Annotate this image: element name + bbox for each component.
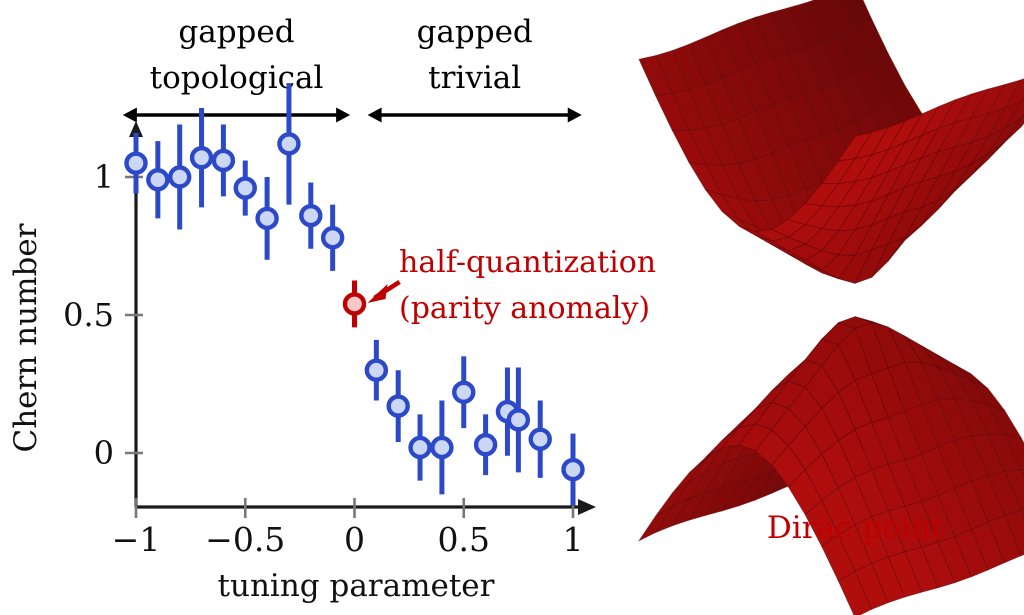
phase-arrow-head-left-icon — [123, 108, 137, 123]
data-marker[interactable] — [432, 438, 451, 457]
data-marker[interactable] — [301, 206, 320, 225]
figure-root: gappedtopologicalgappedtrivial00.51−1−0.… — [0, 0, 1024, 615]
dirac-point-label: Dirac point — [767, 510, 944, 546]
x-axis-title: tuning parameter — [218, 568, 495, 604]
data-marker[interactable] — [509, 410, 528, 429]
y-tick-label-1: 0.5 — [63, 296, 114, 334]
data-marker[interactable] — [476, 435, 495, 454]
data-marker[interactable] — [454, 383, 473, 402]
phase-label-line2: topological — [150, 60, 324, 96]
data-point[interactable] — [323, 205, 342, 271]
x-tick-label-4: 1 — [563, 520, 584, 559]
phase-label-line1: gapped — [178, 14, 294, 50]
data-marker[interactable] — [214, 151, 233, 170]
y-tick-label-0: 0 — [94, 434, 114, 472]
data-marker[interactable] — [411, 438, 430, 457]
data-point[interactable] — [279, 83, 298, 204]
data-point[interactable] — [509, 367, 528, 472]
phase-region-gapped-topological: gappedtopological — [123, 14, 350, 123]
figure-canvas: gappedtopologicalgappedtrivial00.51−1−0.… — [0, 0, 1024, 615]
dirac-cone-upper-sheet — [639, 0, 1024, 283]
data-point[interactable] — [148, 141, 167, 218]
data-point[interactable] — [214, 125, 233, 197]
half-quantization-annotation: half-quantization(parity anomaly) — [368, 245, 657, 326]
series-half-quantized — [345, 281, 364, 328]
phase-regions: gappedtopologicalgappedtrivial — [123, 14, 582, 123]
data-marker[interactable] — [258, 209, 277, 228]
data-point[interactable] — [301, 183, 320, 249]
data-marker[interactable] — [192, 148, 211, 167]
data-point[interactable] — [170, 125, 189, 230]
annotation-arrow-head-icon — [368, 284, 388, 303]
data-point[interactable] — [236, 160, 255, 215]
phase-arrow-head-right-icon — [336, 108, 350, 123]
dirac-cone-lower-sheet — [639, 317, 1024, 615]
data-marker[interactable] — [170, 168, 189, 187]
data-marker[interactable] — [236, 179, 255, 198]
data-point[interactable] — [564, 434, 583, 506]
data-point[interactable] — [345, 281, 364, 328]
data-point[interactable] — [411, 414, 430, 480]
data-marker[interactable] — [531, 430, 550, 449]
phase-region-gapped-trivial: gappedtrivial — [368, 14, 582, 123]
y-axis-title: Chern number — [8, 223, 44, 452]
x-tick-label-3: 0.5 — [438, 520, 490, 559]
parity-anomaly-label: (parity anomaly) — [399, 291, 650, 326]
x-tick-label-1: −0.5 — [205, 520, 285, 559]
plot-axes: 00.51−1−0.500.51tuning parameterChern nu… — [8, 121, 596, 604]
data-point[interactable] — [258, 177, 277, 260]
phase-arrow-head-right-icon — [568, 108, 582, 123]
data-marker[interactable] — [323, 228, 342, 247]
data-point[interactable] — [127, 133, 146, 194]
phase-label-line1: gapped — [417, 14, 533, 50]
half-quantization-label: half-quantization — [399, 245, 656, 280]
data-marker[interactable] — [279, 134, 298, 153]
data-marker[interactable] — [367, 361, 386, 380]
data-point[interactable] — [454, 356, 473, 428]
data-point[interactable] — [531, 401, 550, 478]
data-marker[interactable] — [345, 294, 364, 313]
data-marker[interactable] — [389, 397, 408, 416]
data-point[interactable] — [367, 340, 386, 401]
data-marker[interactable] — [127, 154, 146, 173]
data-point[interactable] — [476, 414, 495, 475]
x-tick-label-2: 0 — [344, 520, 365, 559]
x-tick-label-0: −1 — [112, 520, 161, 559]
y-tick-label-2: 1 — [94, 158, 114, 196]
phase-label-line2: trivial — [428, 60, 521, 96]
data-marker[interactable] — [148, 170, 167, 189]
phase-arrow-head-left-icon — [368, 108, 382, 123]
data-point[interactable] — [432, 401, 451, 495]
data-marker[interactable] — [564, 460, 583, 479]
x-axis-arrow-icon — [578, 499, 596, 515]
data-point[interactable] — [192, 108, 211, 207]
data-point[interactable] — [389, 370, 408, 442]
